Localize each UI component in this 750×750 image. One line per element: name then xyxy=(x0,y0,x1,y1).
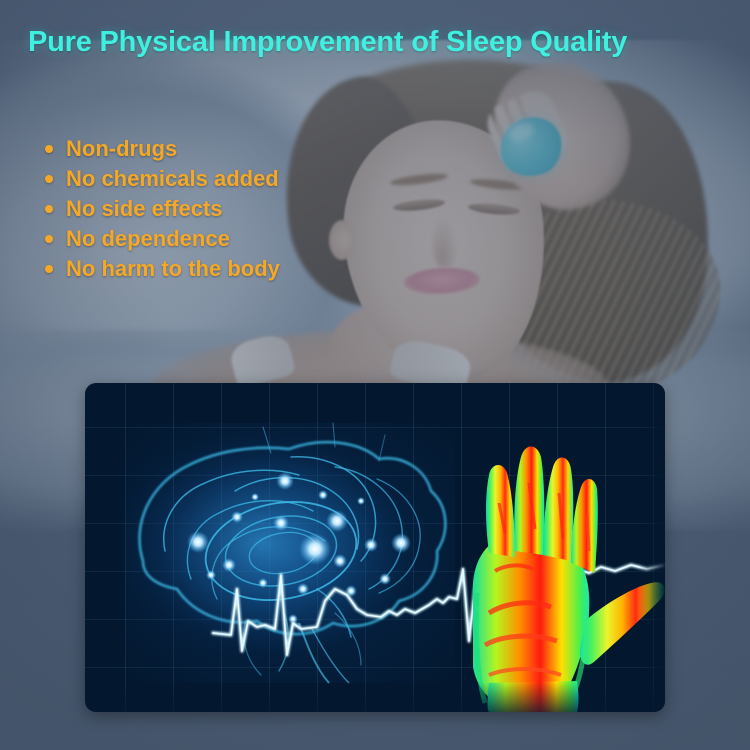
benefit-label: No dependence xyxy=(66,226,230,251)
poster-root: Pure Physical Improvement of Sleep Quali… xyxy=(0,0,750,750)
thermal-hand xyxy=(473,447,665,713)
page-title: Pure Physical Improvement of Sleep Quali… xyxy=(28,26,734,59)
bullet-dot-icon xyxy=(45,175,53,183)
list-item: No harm to the body xyxy=(40,258,280,280)
bullet-dot-icon xyxy=(45,205,53,213)
panel-graphics xyxy=(85,383,665,712)
science-panel xyxy=(85,383,665,712)
panel-right-fade xyxy=(639,383,665,712)
benefit-label: No side effects xyxy=(66,196,223,221)
list-item: Non-drugs xyxy=(40,138,280,160)
benefit-label: No harm to the body xyxy=(66,256,280,281)
list-item: No side effects xyxy=(40,198,280,220)
list-item: No dependence xyxy=(40,228,280,250)
bullet-dot-icon xyxy=(45,145,53,153)
panel-bottom-fade xyxy=(85,682,665,712)
benefit-label: No chemicals added xyxy=(66,166,279,191)
benefit-label: Non-drugs xyxy=(66,136,177,161)
bullet-dot-icon xyxy=(45,265,53,273)
list-item: No chemicals added xyxy=(40,168,280,190)
benefits-list: Non-drugs No chemicals added No side eff… xyxy=(40,138,280,288)
bullet-dot-icon xyxy=(45,235,53,243)
